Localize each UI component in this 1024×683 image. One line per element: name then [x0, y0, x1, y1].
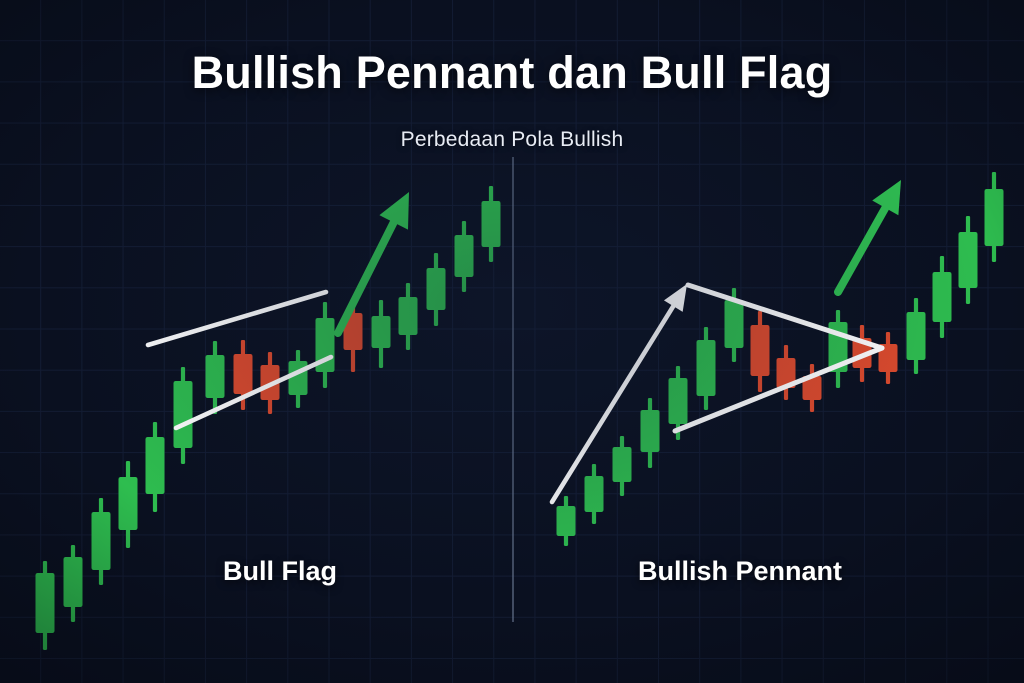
- candlestick-up: [829, 310, 848, 388]
- candlestick-up: [36, 561, 55, 650]
- candlestick-down: [879, 332, 898, 384]
- candlestick-up: [289, 350, 308, 408]
- candlestick-up: [907, 298, 926, 374]
- candlestick-up: [455, 221, 474, 292]
- candlestick-up: [613, 436, 632, 496]
- candlestick-up: [206, 341, 225, 414]
- candlestick-up: [372, 300, 391, 368]
- candlestick-up: [585, 464, 604, 524]
- candlestick-up: [959, 216, 978, 304]
- candlestick-up: [697, 327, 716, 410]
- candlestick-up: [427, 253, 446, 326]
- candlestick-up: [64, 545, 83, 622]
- candlestick-up: [482, 186, 501, 262]
- pattern-overlay-lines: [148, 180, 901, 502]
- candlestick-up: [399, 283, 418, 350]
- lower-channel-line: [176, 357, 331, 428]
- candlestick-up: [119, 461, 138, 548]
- candlestick-down: [751, 311, 770, 392]
- candlestick-series-bullish-pennant: [557, 172, 1004, 546]
- upper-channel-line: [148, 292, 326, 345]
- candlestick-up: [985, 172, 1004, 262]
- candlestick-up: [174, 367, 193, 464]
- panel-label-bull-flag: Bull Flag: [130, 556, 430, 587]
- upper-pennant-line: [688, 285, 882, 348]
- infographic-canvas: Bullish Pennant dan Bull Flag Perbedaan …: [0, 0, 1024, 683]
- candlestick-up: [92, 498, 111, 585]
- breakout-arrow-bull-flag: [338, 192, 409, 333]
- candlestick-up: [933, 256, 952, 338]
- panel-label-bullish-pennant: Bullish Pennant: [580, 556, 900, 587]
- candlestick-up: [641, 398, 660, 468]
- breakout-arrow-bullish-pennant: [838, 180, 901, 292]
- candlestick-up: [557, 496, 576, 546]
- candlestick-up: [146, 422, 165, 512]
- page-subtitle: Perbedaan Pola Bullish: [0, 128, 1024, 152]
- page-title: Bullish Pennant dan Bull Flag: [0, 45, 1024, 101]
- candlestick-up: [316, 302, 335, 388]
